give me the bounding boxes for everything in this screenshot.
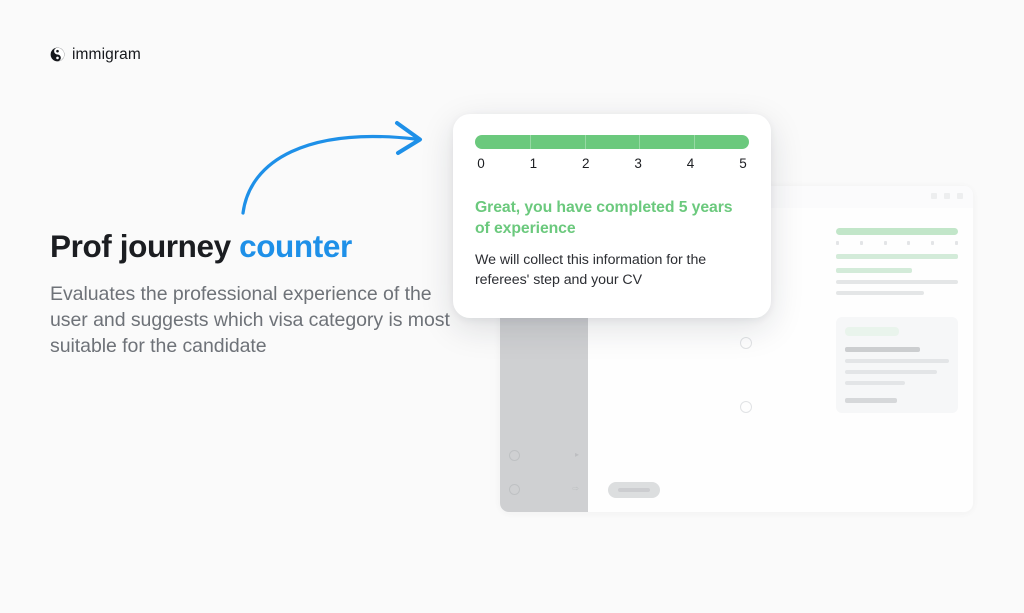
- headline-primary: Prof journey: [50, 228, 231, 264]
- window-controls-icon: [931, 193, 963, 199]
- scale-tick: 3: [633, 157, 643, 171]
- brand-name: immigram: [72, 47, 141, 63]
- mockup-progress-ticks: [836, 241, 958, 245]
- page-title: Prof journey counter: [50, 228, 450, 265]
- avatar: [509, 484, 520, 495]
- mockup-help-body: [845, 370, 937, 374]
- experience-progress-bar[interactable]: [475, 135, 749, 149]
- finish-step-button[interactable]: [608, 482, 660, 498]
- card-success-heading: Great, you have completed 5 years of exp…: [475, 197, 749, 239]
- headline-accent: counter: [239, 228, 352, 264]
- experience-counter-card: 0 1 2 3 4 5 Great, you have completed 5 …: [453, 114, 771, 318]
- mockup-help-card: [836, 317, 958, 413]
- mockup-open-guide-link[interactable]: [845, 398, 897, 403]
- scale-tick: 5: [738, 157, 748, 171]
- mockup-success-text: [836, 254, 958, 259]
- immigram-swirl-icon: [50, 47, 65, 62]
- mockup-sidebar-item: ▸: [509, 442, 579, 468]
- scale-tick: 0: [476, 157, 486, 171]
- hero-copy: Prof journey counter Evaluates the profe…: [50, 228, 450, 360]
- hero-subcopy: Evaluates the professional experience of…: [50, 282, 450, 360]
- brand-logo: immigram: [50, 47, 141, 63]
- mockup-help-body: [845, 381, 905, 385]
- mockup-progress-bar: [836, 228, 958, 235]
- mockup-body-text: [836, 280, 958, 284]
- mockup-help-title: [845, 347, 920, 352]
- mockup-guide-panel: [836, 228, 958, 413]
- scale-tick: 1: [528, 157, 538, 171]
- card-description: We will collect this information for the…: [475, 250, 749, 290]
- chevron-right-icon: ▸: [575, 451, 579, 459]
- field-action-icon: [740, 401, 752, 413]
- scale-tick: 4: [686, 157, 696, 171]
- mockup-help-body: [845, 359, 949, 363]
- curved-arrow-icon: [230, 108, 450, 220]
- mockup-chip: [845, 327, 899, 336]
- mockup-sidebar-item: ⇨: [509, 476, 579, 502]
- field-action-icon: [740, 337, 752, 349]
- mockup-success-text: [836, 268, 912, 273]
- mockup-body-text: [836, 291, 924, 295]
- pin-icon: [509, 450, 520, 461]
- progress-scale: 0 1 2 3 4 5: [475, 157, 749, 171]
- logout-icon: ⇨: [572, 485, 579, 493]
- scale-tick: 2: [581, 157, 591, 171]
